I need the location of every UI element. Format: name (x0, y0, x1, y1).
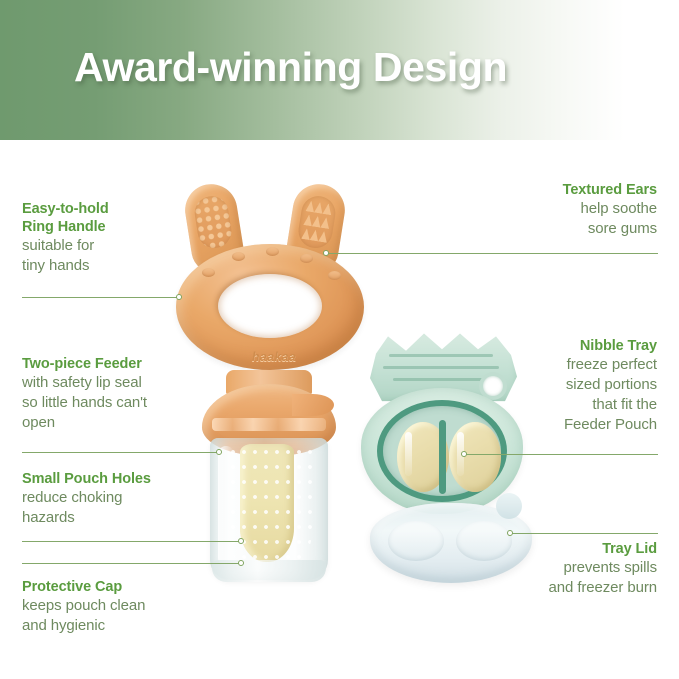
callout-protective-cap: Protective Cap keeps pouch clean and hyg… (22, 578, 232, 636)
callout-small-pouch-holes: Small Pouch Holes reduce choking hazards (22, 470, 232, 528)
connector-dot-textured-ears (323, 250, 329, 256)
callout-body-line: sized portions (566, 376, 657, 393)
connector-line-protective-cap (22, 563, 240, 564)
callout-body-nibble-tray: freeze perfect sized portions that fit t… (437, 355, 657, 435)
callout-body-line: and freezer burn (549, 579, 657, 596)
callout-title-textured-ears: Textured Ears (437, 181, 657, 199)
collar-spout (292, 394, 334, 416)
callout-title-line: Easy-to-hold (22, 201, 109, 217)
callout-body-line: freeze perfect (567, 356, 657, 373)
callout-body-line: sore gums (588, 220, 657, 237)
callout-body-line: suitable for (22, 237, 94, 254)
callout-body-line: keeps pouch clean (22, 597, 145, 614)
connector-dot-ring-handle (176, 294, 182, 300)
callout-title-small-pouch-holes: Small Pouch Holes (22, 470, 232, 488)
callout-body-line: tiny hands (22, 257, 89, 274)
callout-title-ring-handle: Easy-to-hold Ring Handle (22, 200, 222, 236)
lid-dome-left (388, 521, 444, 561)
connector-dot-pouch-holes (238, 538, 244, 544)
callout-body-small-pouch-holes: reduce choking hazards (22, 488, 232, 528)
connector-dot-two-piece (216, 449, 222, 455)
callout-body-line: help soothe (581, 200, 657, 217)
tray-compartment-divider (439, 420, 446, 494)
connector-dot-nibble-tray (461, 451, 467, 457)
callout-body-line: with safety lip seal (22, 374, 142, 391)
callout-title-nibble-tray: Nibble Tray (437, 337, 657, 355)
connector-line-tray-lid (512, 533, 658, 534)
connector-dot-tray-lid (507, 530, 513, 536)
callout-title-tray-lid: Tray Lid (437, 540, 657, 558)
lid-tab (496, 493, 522, 519)
ear-zigzag-texture (296, 194, 338, 251)
callout-body-protective-cap: keeps pouch clean and hygienic (22, 596, 232, 636)
callout-title-two-piece-feeder: Two-piece Feeder (22, 355, 232, 373)
page-title: Award-winning Design (74, 44, 507, 91)
connector-line-ring-handle (22, 297, 178, 298)
callout-body-line: reduce choking (22, 489, 122, 506)
callout-body-line: that fit the (592, 396, 657, 413)
callout-textured-ears: Textured Ears help soothe sore gums (437, 181, 657, 239)
callout-body-textured-ears: help soothe sore gums (437, 199, 657, 239)
ring-opening (218, 274, 322, 338)
pouch-holes-texture (226, 440, 312, 568)
callout-ring-handle: Easy-to-hold Ring Handle suitable for ti… (22, 200, 222, 276)
connector-line-nibble-tray (466, 454, 658, 455)
callout-title-protective-cap: Protective Cap (22, 578, 232, 596)
connector-dot-protective-cap (238, 560, 244, 566)
callout-title-line: Ring Handle (22, 219, 106, 235)
callout-two-piece-feeder: Two-piece Feeder with safety lip seal so… (22, 355, 232, 433)
callout-body-line: prevents spills (563, 559, 657, 576)
connector-line-textured-ears (328, 253, 658, 254)
callout-body-line: Feeder Pouch (564, 416, 657, 433)
callout-body-ring-handle: suitable for tiny hands (22, 236, 222, 276)
callout-body-tray-lid: prevents spills and freezer burn (437, 558, 657, 598)
callout-body-line: and hygienic (22, 617, 105, 634)
connector-line-two-piece (22, 452, 218, 453)
callout-body-line: so little hands can't (22, 394, 147, 411)
haakaa-logo: haakaa (234, 350, 314, 364)
callout-body-line: open (22, 414, 55, 431)
callout-body-line: hazards (22, 509, 75, 526)
callout-tray-lid: Tray Lid prevents spills and freezer bur… (437, 540, 657, 598)
connector-line-pouch-holes (22, 541, 240, 542)
callout-body-two-piece-feeder: with safety lip seal so little hands can… (22, 373, 232, 433)
callout-nibble-tray: Nibble Tray freeze perfect sized portion… (437, 337, 657, 435)
